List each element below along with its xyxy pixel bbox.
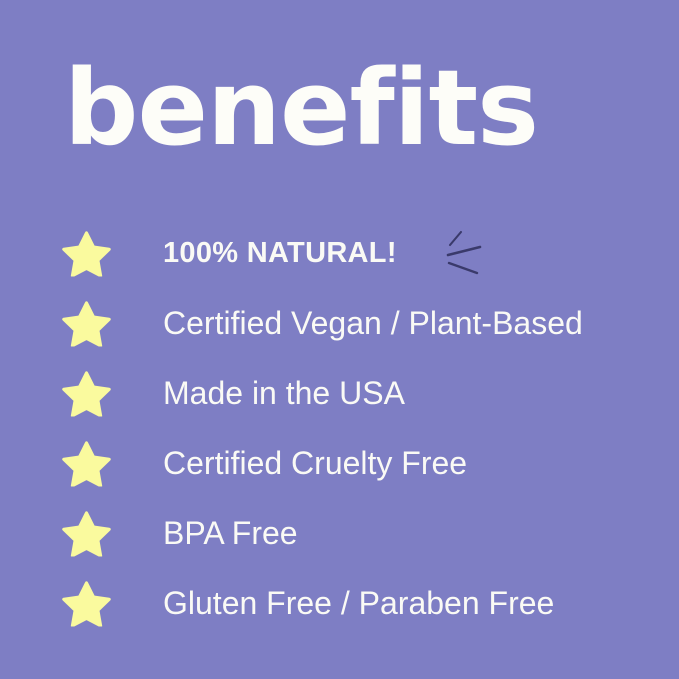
benefit-item: BPA Free — [0, 498, 679, 568]
emphasis-lines-icon — [440, 226, 496, 280]
star-icon — [62, 580, 111, 627]
benefit-label: BPA Free — [163, 514, 298, 552]
benefit-label: Certified Vegan / Plant-Based — [163, 304, 583, 342]
page-title: benefits — [64, 52, 538, 164]
star-icon — [62, 300, 111, 347]
benefit-label: Certified Cruelty Free — [163, 444, 467, 482]
star-icon — [62, 510, 111, 557]
star-icon — [62, 440, 111, 487]
benefit-item: 100% NATURAL! — [0, 218, 679, 288]
benefit-item: Gluten Free / Paraben Free — [0, 568, 679, 638]
benefit-label: Gluten Free / Paraben Free — [163, 584, 554, 622]
benefit-label: Made in the USA — [163, 374, 405, 412]
benefits-poster: benefits 100% NATURAL!Certified Vegan / … — [0, 0, 679, 679]
star-icon — [62, 370, 111, 417]
star-icon — [62, 230, 111, 277]
benefits-list: 100% NATURAL!Certified Vegan / Plant-Bas… — [0, 218, 679, 638]
benefit-item: Made in the USA — [0, 358, 679, 428]
benefit-label: 100% NATURAL! — [163, 234, 397, 272]
benefit-item: Certified Cruelty Free — [0, 428, 679, 498]
benefit-item: Certified Vegan / Plant-Based — [0, 288, 679, 358]
